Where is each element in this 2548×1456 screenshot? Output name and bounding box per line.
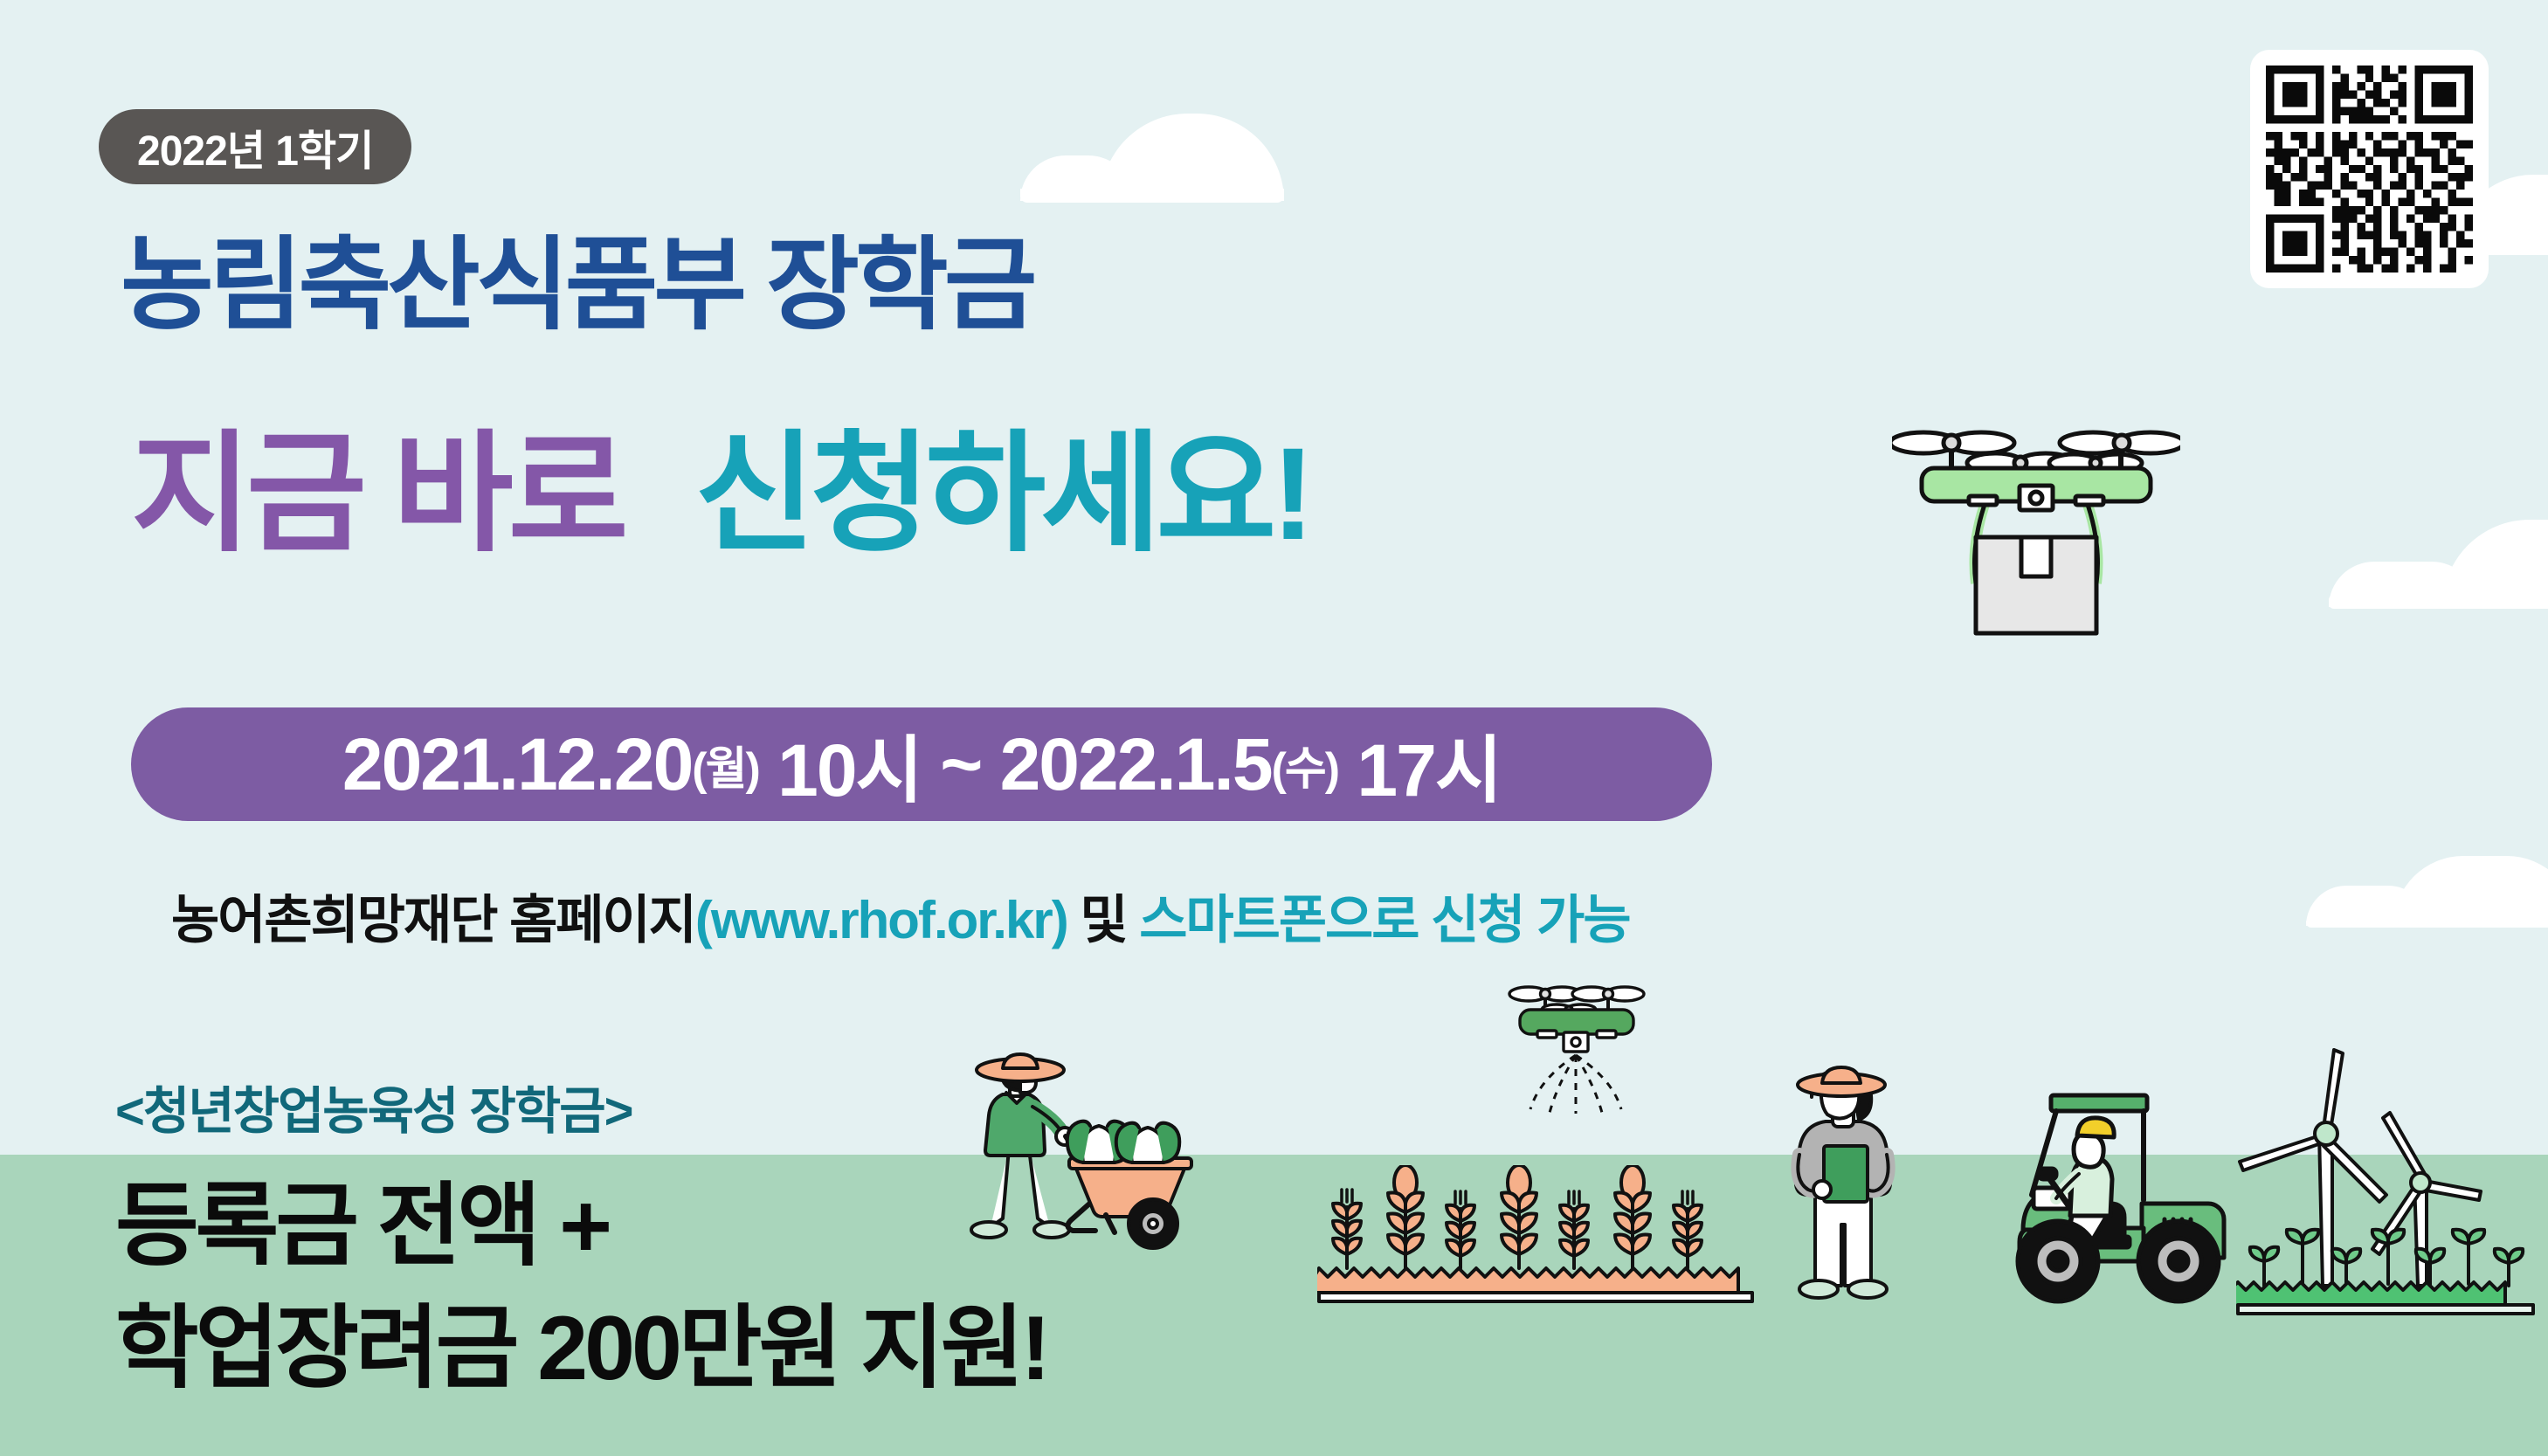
page-title: 농림축산식품부 장학금	[121, 234, 1032, 335]
apply-url-link[interactable]: (www.rhof.or.kr)	[695, 891, 1067, 949]
wheat-field-icon	[1317, 1165, 1754, 1305]
headline-secondary: 지금 바로 신청하세요!	[131, 428, 1309, 559]
qr-code-icon[interactable]	[2250, 50, 2489, 288]
tractor-icon	[1999, 1081, 2261, 1317]
benefit-line-2: 학업장려금 200만원 지원!	[115, 1303, 1047, 1394]
semester-badge: 2022년 1학기	[99, 109, 411, 184]
period-start-time: 10시	[777, 712, 922, 818]
period-separator: ~	[940, 722, 981, 807]
period-end-day: (수)	[1272, 732, 1338, 797]
apply-channel-line: 농어촌희망재단 홈페이지(www.rhof.or.kr) 및 스마트폰으로 신청…	[171, 878, 1630, 954]
headline-purple-part: 지금 바로	[131, 420, 624, 567]
period-end-date: 2022.1.5	[1000, 722, 1272, 807]
wind-turbine-icon	[2236, 1036, 2548, 1324]
apply-suffix: 스마트폰으로 신청 가능	[1139, 891, 1629, 949]
period-start-day: (월)	[692, 732, 758, 797]
farmer-with-wheelbarrow-icon	[952, 1052, 1214, 1262]
apply-middle: 및	[1067, 891, 1140, 949]
scholarship-type-subhead: <청년창업농육성 장학금>	[115, 1070, 632, 1143]
apply-prefix: 농어촌희망재단 홈페이지	[171, 891, 695, 949]
delivery-drone-icon	[1892, 417, 2180, 653]
period-start-date: 2021.12.20	[342, 722, 692, 807]
poster-root: 2022년 1학기 농림축산식품부 장학금 지금 바로 신청하세요! 2021.…	[0, 0, 2548, 1456]
farmer-with-tablet-icon	[1773, 1064, 1913, 1317]
benefit-line-1: 등록금 전액 +	[115, 1181, 609, 1272]
spray-drone-icon	[1494, 978, 1660, 1127]
application-period-banner: 2021.12.20(월) 10시 ~ 2022.1.5(수) 17시	[131, 707, 1712, 821]
headline-teal-part: 신청하세요!	[694, 420, 1309, 567]
period-end-time: 17시	[1357, 712, 1501, 818]
